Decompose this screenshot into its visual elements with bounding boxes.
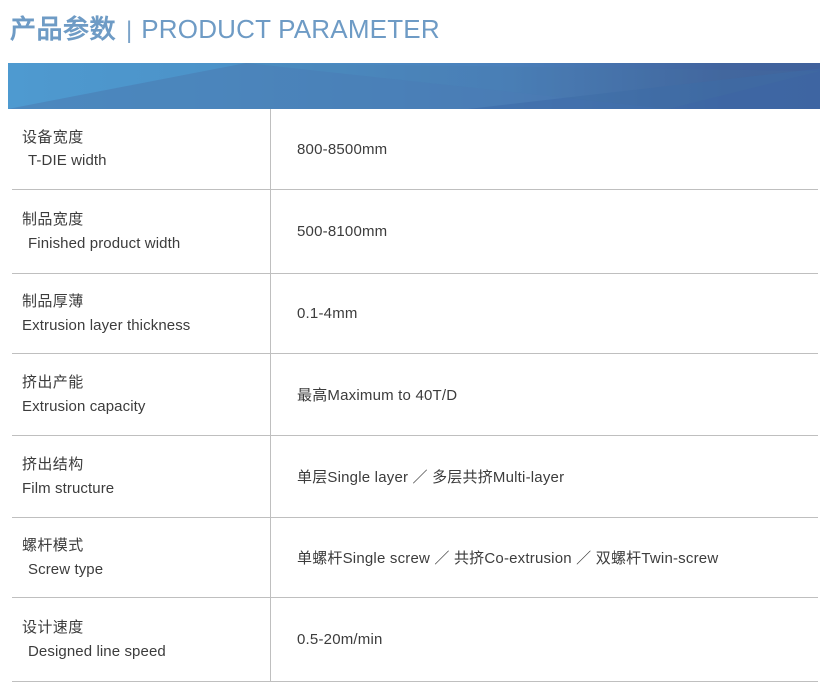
parameter-value-cell: 800-8500mm: [270, 109, 818, 189]
table-row: 制品宽度 Finished product width 500-8100mm: [12, 190, 818, 274]
table-row: 设备宽度 T-DIE width 800-8500mm: [12, 109, 818, 190]
parameter-label-chinese: 设计速度: [22, 616, 270, 639]
parameter-label-english: T-DIE width: [22, 149, 270, 172]
parameter-value: 500-8100mm: [297, 223, 387, 240]
parameter-label-cell: 挤出结构 Film structure: [12, 436, 270, 517]
parameter-label-cell: 设备宽度 T-DIE width: [12, 109, 270, 189]
parameter-label-chinese: 制品厚薄: [22, 290, 270, 313]
parameter-value-cell: 最高Maximum to 40T/D: [270, 354, 818, 435]
parameter-label-cell: 制品宽度 Finished product width: [12, 190, 270, 273]
parameter-value: 单层Single layer ／ 多层共挤Multi-layer: [297, 466, 564, 487]
page-title: 产品参数 | PRODUCT PARAMETER: [10, 9, 440, 45]
parameter-label-english: Designed line speed: [22, 640, 270, 663]
parameter-label-english: Screw type: [22, 558, 270, 581]
parameter-value: 0.1-4mm: [297, 305, 358, 322]
parameter-label-cell: 设计速度 Designed line speed: [12, 598, 270, 681]
parameter-label-english: Extrusion capacity: [22, 395, 270, 418]
parameter-table: 设备宽度 T-DIE width 800-8500mm 制品宽度 Finishe…: [12, 109, 818, 682]
parameter-value: 单螺杆Single screw ／ 共挤Co-extrusion ／ 双螺杆Tw…: [297, 547, 718, 568]
title-separator: |: [126, 17, 132, 45]
parameter-label-cell: 制品厚薄 Extrusion layer thickness: [12, 274, 270, 353]
parameter-label-chinese: 设备宽度: [22, 126, 270, 149]
parameter-label-english: Extrusion layer thickness: [22, 314, 270, 337]
parameter-value-cell: 500-8100mm: [270, 190, 818, 273]
parameter-label-english: Film structure: [22, 477, 270, 500]
parameter-label-cell: 螺杆模式 Screw type: [12, 518, 270, 597]
parameter-label-cell: 挤出产能 Extrusion capacity: [12, 354, 270, 435]
table-row: 螺杆模式 Screw type 单螺杆Single screw ／ 共挤Co-e…: [12, 518, 818, 598]
page-title-chinese: 产品参数: [10, 9, 116, 46]
parameter-value-cell: 单层Single layer ／ 多层共挤Multi-layer: [270, 436, 818, 517]
product-parameter-page: 产品参数 | PRODUCT PARAMETER 设备宽度 T-DIE widt…: [0, 0, 830, 697]
parameter-label-chinese: 挤出结构: [22, 453, 270, 476]
parameter-value: 最高Maximum to 40T/D: [297, 384, 457, 405]
parameter-value-cell: 0.5-20m/min: [270, 598, 818, 681]
parameter-label-chinese: 制品宽度: [22, 208, 270, 231]
parameter-label-chinese: 挤出产能: [22, 371, 270, 394]
table-row: 挤出结构 Film structure 单层Single layer ／ 多层共…: [12, 436, 818, 518]
parameter-value-cell: 0.1-4mm: [270, 274, 818, 353]
parameter-label-chinese: 螺杆模式: [22, 534, 270, 557]
parameter-value: 0.5-20m/min: [297, 631, 383, 648]
table-row: 设计速度 Designed line speed 0.5-20m/min: [12, 598, 818, 682]
decorative-banner: [8, 63, 820, 109]
table-row: 制品厚薄 Extrusion layer thickness 0.1-4mm: [12, 274, 818, 354]
banner-geometry-icon: [8, 63, 820, 109]
parameter-value-cell: 单螺杆Single screw ／ 共挤Co-extrusion ／ 双螺杆Tw…: [270, 518, 818, 597]
parameter-value: 800-8500mm: [297, 141, 387, 158]
table-row: 挤出产能 Extrusion capacity 最高Maximum to 40T…: [12, 354, 818, 436]
parameter-label-english: Finished product width: [22, 232, 270, 255]
page-title-english: PRODUCT PARAMETER: [141, 14, 440, 45]
